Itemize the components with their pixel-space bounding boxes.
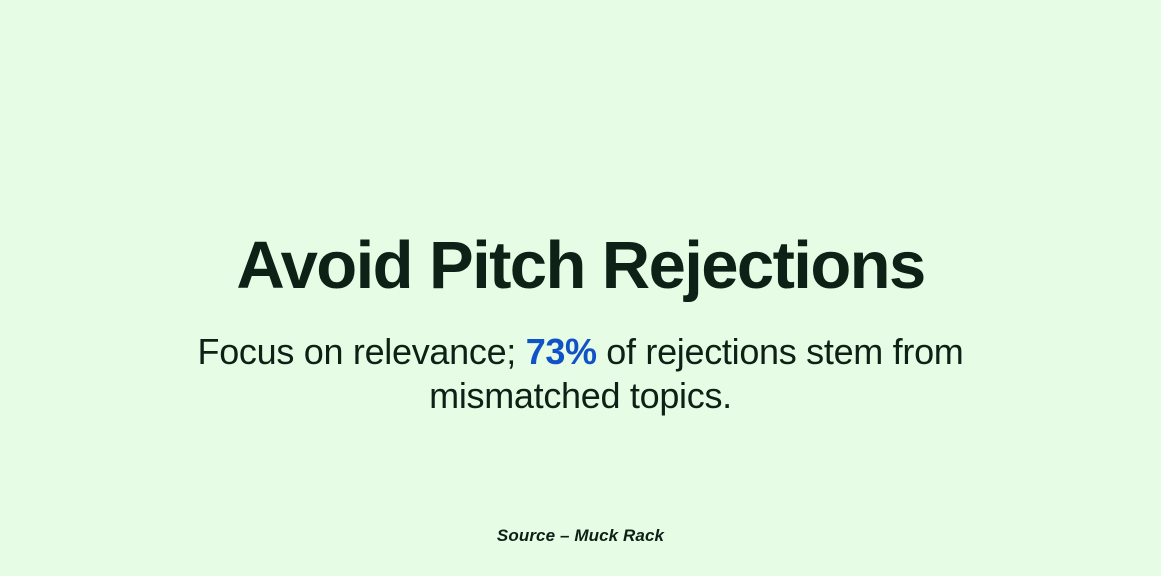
page-title: Avoid Pitch Rejections (0, 231, 1161, 301)
stat-highlight-value: 73% (526, 331, 597, 372)
subtitle-text: Focus on relevance; 73% of rejections st… (151, 330, 1011, 418)
source-attribution: Source – Muck Rack (0, 526, 1161, 546)
subtitle-lead: Focus on relevance; (198, 331, 526, 372)
slide-canvas: Avoid Pitch Rejections Focus on relevanc… (0, 0, 1161, 576)
